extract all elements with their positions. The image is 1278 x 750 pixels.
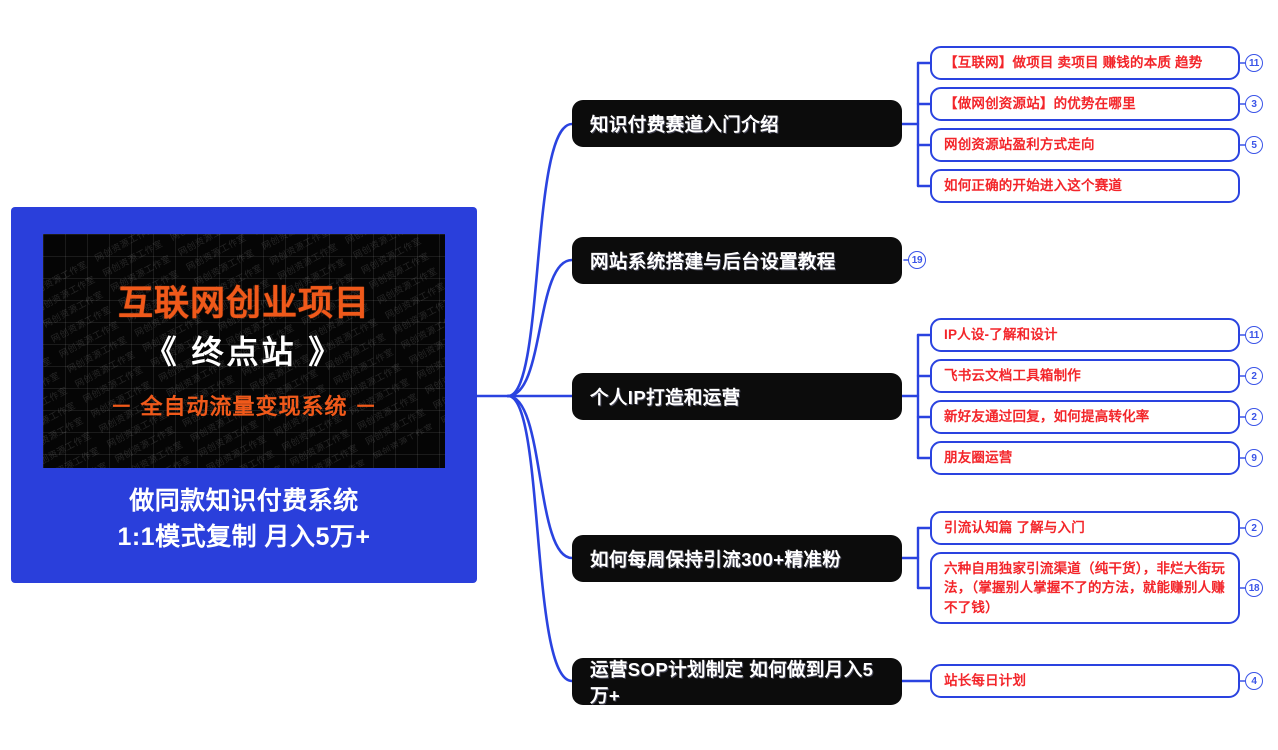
badge-3-3: 2	[1245, 408, 1263, 426]
badge-5-1: 4	[1245, 672, 1263, 690]
leaf-node-3-3[interactable]: 新好友通过回复，如何提高转化率	[930, 400, 1240, 434]
poster-title: 互联网创业项目	[118, 285, 370, 323]
root-poster-image: 网创资源工作室网创资源工作室网创资源工作室网创资源工作室网创资源工作室网创资源工…	[43, 234, 445, 468]
root-footer-line-1: 做同款知识付费系统	[12, 484, 476, 520]
root-footer-line-2: 1:1模式复制 月入5万+	[12, 520, 476, 556]
branch-node-3[interactable]: 个人IP打造和运营	[572, 373, 902, 420]
leaf-node-1-4[interactable]: 如何正确的开始进入这个赛道	[930, 169, 1240, 203]
leaf-node-3-3-label: 新好友通过回复，如何提高转化率	[944, 407, 1150, 427]
leaf-node-3-4[interactable]: 朋友圈运营	[930, 441, 1240, 475]
leaf-node-1-1-label: 【互联网】做项目 卖项目 赚钱的本质 趋势	[944, 53, 1202, 73]
badge-1-2: 3	[1245, 95, 1263, 113]
leaf-node-5-1[interactable]: 站长每日计划	[930, 664, 1240, 698]
badge-1-1: 11	[1245, 54, 1263, 72]
leaf-node-4-2[interactable]: 六种自用独家引流渠道（纯干货），非烂大街玩法，（掌握别人掌握不了的方法，就能赚别…	[930, 552, 1240, 624]
branch-node-1[interactable]: 知识付费赛道入门介绍	[572, 100, 902, 147]
poster-subtitle: 《 终点站 》	[145, 335, 344, 370]
leaf-node-1-2[interactable]: 【做网创资源站】的优势在哪里	[930, 87, 1240, 121]
leaf-node-1-1[interactable]: 【互联网】做项目 卖项目 赚钱的本质 趋势	[930, 46, 1240, 80]
badge-4-2: 18	[1245, 579, 1263, 597]
root-node[interactable]: 网创资源工作室网创资源工作室网创资源工作室网创资源工作室网创资源工作室网创资源工…	[12, 208, 476, 582]
branch-node-1-label: 知识付费赛道入门介绍	[590, 111, 779, 137]
branch-node-2[interactable]: 网站系统搭建与后台设置教程	[572, 237, 902, 284]
branch-node-3-label: 个人IP打造和运营	[590, 384, 741, 410]
badge-3-1: 11	[1245, 326, 1263, 344]
leaf-node-1-4-label: 如何正确的开始进入这个赛道	[944, 176, 1122, 196]
branch-node-2-label: 网站系统搭建与后台设置教程	[590, 248, 836, 274]
leaf-node-4-1[interactable]: 引流认知篇 了解与入门	[930, 511, 1240, 545]
leaf-node-1-3-label: 网创资源站盈利方式走向	[944, 135, 1095, 155]
leaf-node-1-3[interactable]: 网创资源站盈利方式走向	[930, 128, 1240, 162]
branch-node-5[interactable]: 运营SOP计划制定 如何做到月入5万+	[572, 658, 902, 705]
leaf-node-3-4-label: 朋友圈运营	[944, 448, 1013, 468]
leaf-node-3-2[interactable]: 飞书云文档工具箱制作	[930, 359, 1240, 393]
leaf-node-1-2-label: 【做网创资源站】的优势在哪里	[944, 94, 1136, 114]
branch-node-4-label: 如何每周保持引流300+精准粉	[590, 546, 841, 572]
badge-3-4: 9	[1245, 449, 1263, 467]
badge-4-1: 2	[1245, 519, 1263, 537]
leaf-node-3-1-label: IP人设-了解和设计	[944, 325, 1058, 345]
badge-3-2: 2	[1245, 367, 1263, 385]
leaf-node-5-1-label: 站长每日计划	[944, 671, 1026, 691]
poster-tagline: － 全自动流量变现系统 －	[110, 389, 377, 421]
branch-node-5-label: 运营SOP计划制定 如何做到月入5万+	[590, 656, 884, 708]
root-footer: 做同款知识付费系统 1:1模式复制 月入5万+	[12, 484, 476, 555]
mindmap-canvas: 网创资源工作室网创资源工作室网创资源工作室网创资源工作室网创资源工作室网创资源工…	[0, 0, 1278, 750]
badge-2: 19	[908, 251, 926, 269]
leaf-node-4-1-label: 引流认知篇 了解与入门	[944, 518, 1085, 538]
leaf-node-3-2-label: 飞书云文档工具箱制作	[944, 366, 1081, 386]
leaf-node-3-1[interactable]: IP人设-了解和设计	[930, 318, 1240, 352]
badge-1-3: 5	[1245, 136, 1263, 154]
branch-node-4[interactable]: 如何每周保持引流300+精准粉	[572, 535, 902, 582]
leaf-node-4-2-label: 六种自用独家引流渠道（纯干货），非烂大街玩法，（掌握别人掌握不了的方法，就能赚别…	[944, 559, 1226, 618]
